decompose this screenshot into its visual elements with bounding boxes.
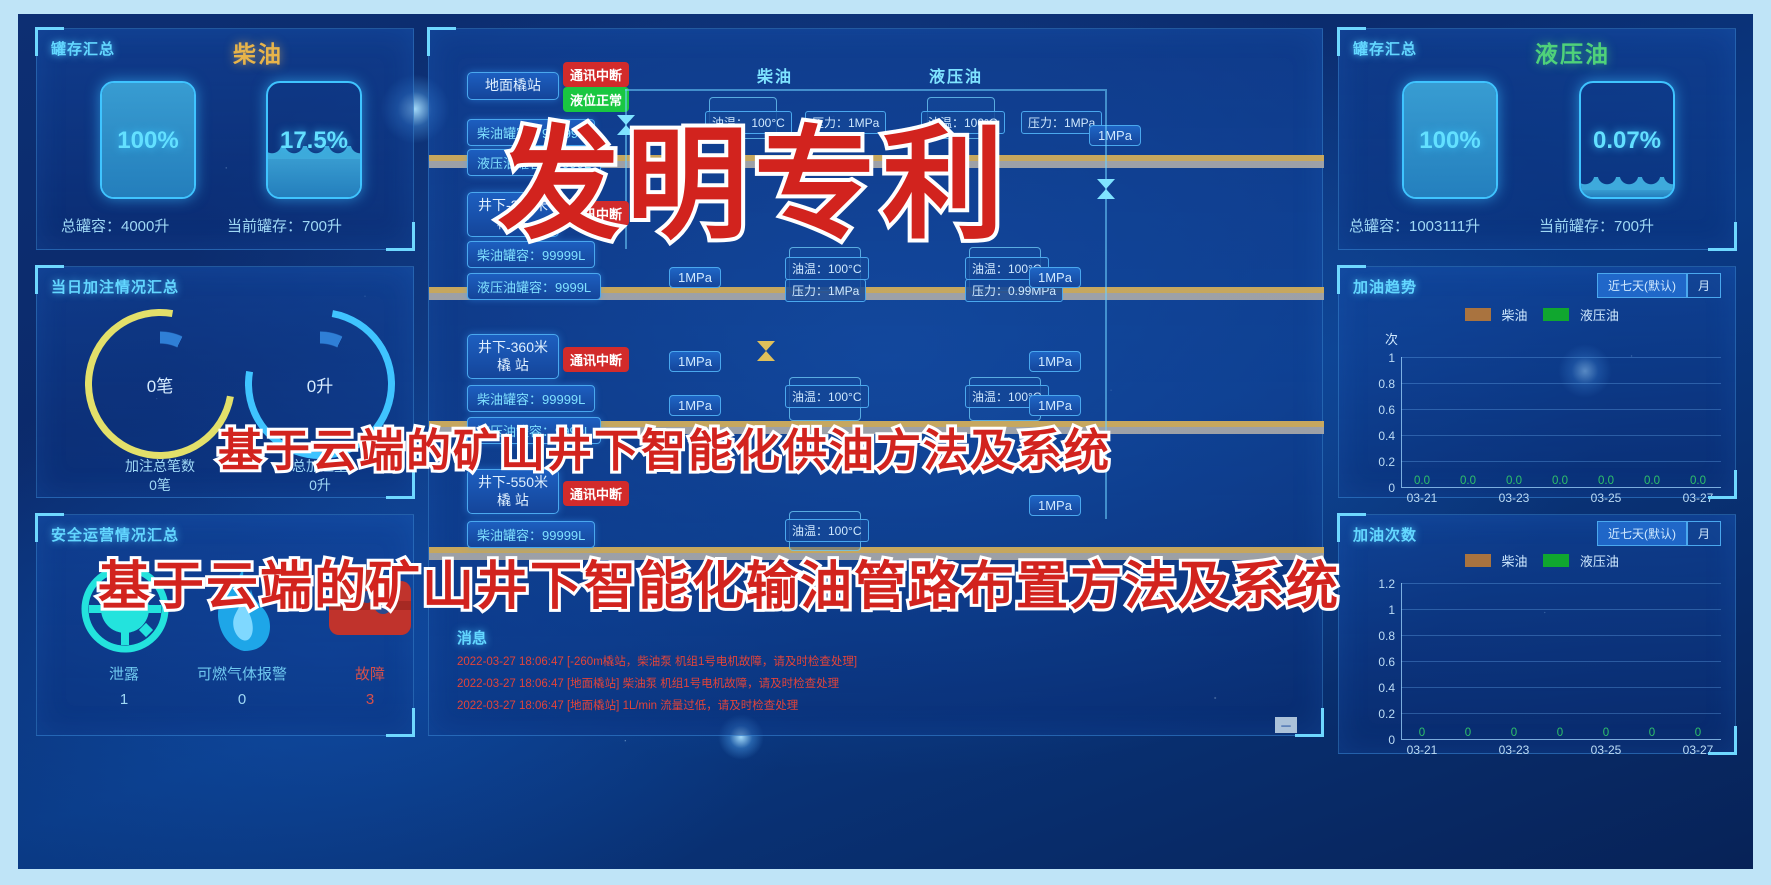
y-axis-unit: 次 (1385, 329, 1398, 348)
grid-line (1401, 435, 1721, 436)
data-point-label: 0.0 (1543, 475, 1577, 487)
panel-diesel-inventory: 罐存汇总 柴油 100% 总罐容：4000升 17.5% 当前罐存：700升 (36, 28, 414, 250)
panel-title: 罐存汇总 (1353, 38, 1417, 59)
data-point-label: 0 (1681, 727, 1715, 739)
panel-title: 当日加注情况汇总 (51, 276, 179, 297)
panel-title: 罐存汇总 (51, 38, 115, 59)
x-tick: 03-25 (1583, 491, 1629, 505)
y-tick: 1 (1361, 351, 1395, 365)
sensor-tag-temp: 油温：100°C (785, 385, 869, 408)
grid-line (1401, 461, 1721, 462)
legend-label: 液压油 (1580, 554, 1619, 569)
data-point-label: 0.0 (1681, 475, 1715, 487)
tank-percent-value: 17.5% (268, 127, 360, 155)
panel-refuel-trend-chart: 加油趋势 近七天(默认) 月 柴油 液压油 次 1 0.8 0.6 0.4 0.… (1338, 266, 1736, 498)
zoom-out-button[interactable]: － (1275, 717, 1297, 733)
grid-line (1401, 357, 1721, 358)
legend-swatch (1543, 308, 1569, 321)
y-axis-line (1401, 583, 1402, 739)
gauge-refuel-count: 0笔 (85, 309, 235, 459)
y-tick: 0.8 (1361, 629, 1395, 643)
x-tick: 03-23 (1491, 491, 1537, 505)
legend-swatch (1465, 308, 1491, 321)
y-tick: 1.2 (1361, 577, 1395, 591)
panel-title: 安全运营情况汇总 (51, 524, 179, 545)
panel-hydraulic-inventory: 罐存汇总 液压油 100% 总罐容：1003111升 0.07% 当前罐存：70… (1338, 28, 1736, 250)
watermark-patent-title: 发明专利 (498, 86, 1010, 263)
chart-range-buttons[interactable]: 近七天(默认) 月 (1597, 521, 1721, 546)
x-axis-line (1401, 487, 1721, 488)
status-badge-comm: 通讯中断 (563, 481, 629, 506)
grid-line (1401, 409, 1721, 410)
legend-swatch (1465, 554, 1491, 567)
data-point-label: 0 (1497, 727, 1531, 739)
capacity-tag-hydraulic: 液压油罐容：9999L (467, 273, 601, 300)
range-button-month[interactable]: 月 (1687, 521, 1721, 546)
fuel-type-label: 柴油 (233, 35, 283, 69)
y-tick: 0.6 (1361, 403, 1395, 417)
safety-label-fault: 故障 (305, 663, 435, 684)
fuel-type-label: 液压油 (1535, 35, 1610, 69)
tank-current-caption: 当前罐存：700升 (1539, 215, 1654, 236)
legend-item-diesel: 柴油 (1465, 551, 1527, 570)
column-label-diesel: 柴油 (757, 63, 793, 87)
x-tick: 03-27 (1675, 743, 1721, 757)
column-label-hydraulic: 液压油 (929, 63, 983, 87)
tank-current-stock: 0.07% (1579, 81, 1675, 199)
data-point-label: 0.0 (1635, 475, 1669, 487)
data-point-label: 0 (1405, 727, 1439, 739)
data-point-label: 0.0 (1451, 475, 1485, 487)
message-row: 2022-03-27 18:06:47 [地面橇站] 1L/min 流量过低，请… (457, 697, 798, 713)
legend-item-diesel: 柴油 (1465, 305, 1527, 324)
chart-title: 加油趋势 (1353, 276, 1417, 297)
y-tick: 0.8 (1361, 377, 1395, 391)
range-button-7days[interactable]: 近七天(默认) (1597, 273, 1687, 298)
pressure-tag: 1MPa (1029, 351, 1081, 372)
tank-current-stock: 17.5% (266, 81, 362, 199)
legend-item-hydraulic: 液压油 (1543, 305, 1618, 324)
range-button-month[interactable]: 月 (1687, 273, 1721, 298)
grid-line (1401, 713, 1721, 714)
valve-icon[interactable] (757, 341, 775, 361)
chart-legend: 柴油 液压油 (1465, 551, 1619, 570)
message-row: 2022-03-27 18:06:47 [地面橇站] 柴油泵 机组1号电机故障，… (457, 675, 839, 691)
y-tick: 1 (1361, 603, 1395, 617)
tank-current-caption: 当前罐存：700升 (227, 215, 342, 236)
safety-value-leak: 1 (59, 691, 189, 708)
status-badge-comm: 通讯中断 (563, 62, 629, 87)
chart-title: 加油次数 (1353, 524, 1417, 545)
y-tick: 0.4 (1361, 429, 1395, 443)
grid-line (1401, 583, 1721, 584)
tank-percent-value: 100% (102, 127, 194, 155)
data-point-label: 0.0 (1497, 475, 1531, 487)
tank-percent-value: 100% (1404, 127, 1496, 155)
data-point-label: 0 (1451, 727, 1485, 739)
safety-value-fault: 3 (305, 691, 435, 708)
watermark-line-2: 基于云端的矿山井下智能化输油管路布置方法及系统 (98, 544, 1340, 619)
pressure-tag: 1MPa (669, 267, 721, 288)
messages-title: 消息 (457, 627, 487, 648)
x-tick: 03-25 (1583, 743, 1629, 757)
y-tick: 0 (1361, 733, 1395, 747)
pressure-tag: 1MPa (1029, 495, 1081, 516)
pressure-tag: 1MPa (669, 395, 721, 416)
x-tick: 03-21 (1399, 743, 1445, 757)
tank-total-capacity: 100% (100, 81, 196, 199)
sensor-tag-pressure: 压力：1MPa (785, 279, 866, 302)
data-point-label: 0.0 (1589, 475, 1623, 487)
y-tick: 0 (1361, 481, 1395, 495)
x-tick: 03-27 (1675, 491, 1721, 505)
data-point-label: 0.0 (1405, 475, 1439, 487)
y-tick: 0.2 (1361, 707, 1395, 721)
chart-range-buttons[interactable]: 近七天(默认) 月 (1597, 273, 1721, 298)
dashboard-stage: 罐存汇总 柴油 100% 总罐容：4000升 17.5% 当前罐存：700升 当… (18, 14, 1753, 869)
sensor-tag-temp: 油温：100°C (785, 519, 869, 542)
y-tick: 0.4 (1361, 681, 1395, 695)
station-label-360m[interactable]: 井下-360米 橇 站 (467, 334, 559, 379)
y-tick: 0.2 (1361, 455, 1395, 469)
legend-label: 柴油 (1501, 308, 1527, 323)
grid-line (1401, 609, 1721, 610)
legend-swatch (1543, 554, 1569, 567)
grid-line (1401, 383, 1721, 384)
pressure-tag: 1MPa (1089, 125, 1141, 146)
grid-line (1401, 661, 1721, 662)
pressure-tag: 1MPa (1029, 395, 1081, 416)
range-button-7days[interactable]: 近七天(默认) (1597, 521, 1687, 546)
safety-label-leak: 泄露 (59, 663, 189, 684)
watermark-line-1: 基于云端的矿山井下智能化供油方法及系统 (218, 414, 1111, 479)
grid-line (1401, 687, 1721, 688)
message-row: 2022-03-27 18:06:47 [-260m橇站，柴油泵 机组1号电机故… (457, 653, 857, 669)
panel-refuel-count-chart: 加油次数 近七天(默认) 月 柴油 液压油 1.2 1 0.8 0.6 0.4 … (1338, 514, 1736, 754)
legend-item-hydraulic: 液压油 (1543, 551, 1618, 570)
safety-value-gas: 0 (177, 691, 307, 708)
data-point-label: 0 (1589, 727, 1623, 739)
pressure-tag: 1MPa (1029, 267, 1081, 288)
grid-line (1401, 635, 1721, 636)
outer-frame: 罐存汇总 柴油 100% 总罐容：4000升 17.5% 当前罐存：700升 当… (0, 0, 1771, 885)
y-tick: 0.6 (1361, 655, 1395, 669)
status-badge-comm: 通讯中断 (563, 347, 629, 372)
x-axis-line (1401, 739, 1721, 740)
gauge-value: 0笔 (85, 309, 235, 459)
y-axis-line (1401, 357, 1402, 487)
tank-total-capacity: 100% (1402, 81, 1498, 199)
legend-label: 柴油 (1501, 554, 1527, 569)
tank-percent-value: 0.07% (1581, 127, 1673, 155)
data-point-label: 0 (1635, 727, 1669, 739)
tank-total-caption: 总罐容：4000升 (61, 215, 169, 236)
pressure-tag: 1MPa (669, 351, 721, 372)
x-tick: 03-21 (1399, 491, 1445, 505)
safety-label-gas: 可燃气体报警 (177, 663, 307, 684)
legend-label: 液压油 (1580, 308, 1619, 323)
valve-icon[interactable] (1097, 179, 1115, 199)
data-point-label: 0 (1543, 727, 1577, 739)
chart-legend: 柴油 液压油 (1465, 305, 1619, 324)
tank-total-caption: 总罐容：1003111升 (1349, 215, 1480, 236)
capacity-tag-diesel: 柴油罐容：99999L (467, 385, 595, 412)
x-tick: 03-23 (1491, 743, 1537, 757)
